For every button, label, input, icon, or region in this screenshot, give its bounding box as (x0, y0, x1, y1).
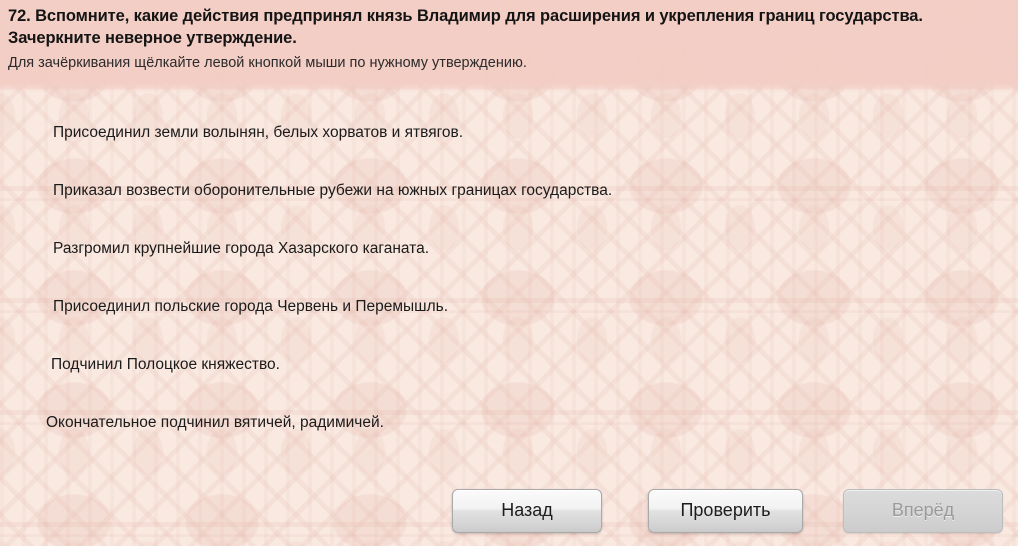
navigation-bar: Назад Проверить Вперёд (0, 489, 1018, 537)
question-title: 72. Вспомните, какие действия предпринял… (8, 6, 993, 50)
question-header: 72. Вспомните, какие действия предпринял… (0, 0, 1018, 72)
statement-item[interactable]: Приказал возвести оборонительные рубежи … (0, 162, 1018, 220)
statement-item[interactable]: Присоединил польские города Червень и Пе… (0, 278, 1018, 336)
statement-text: Присоединил земли волынян, белых хорвато… (53, 124, 463, 142)
statement-text: Приказал возвести оборонительные рубежи … (53, 182, 612, 200)
statement-text: Присоединил польские города Червень и Пе… (53, 298, 448, 316)
statement-item[interactable]: Подчинил Полоцкое княжество. (0, 336, 1018, 394)
statement-text: Окончательное подчинил вятичей, радимиче… (46, 414, 384, 432)
check-button[interactable]: Проверить (648, 489, 803, 533)
statement-text: Разгромил крупнейшие города Хазарского к… (53, 240, 429, 258)
lesson-slide: 72. Вспомните, какие действия предпринял… (0, 0, 1018, 546)
back-button[interactable]: Назад (452, 489, 602, 533)
slide-content: 72. Вспомните, какие действия предпринял… (0, 0, 1018, 546)
statement-list: Присоединил земли волынян, белых хорвато… (0, 104, 1018, 452)
statement-item[interactable]: Окончательное подчинил вятичей, радимиче… (0, 394, 1018, 452)
statement-text: Подчинил Полоцкое княжество. (51, 356, 280, 374)
question-instruction: Для зачёркивания щёлкайте левой кнопкой … (8, 55, 1004, 72)
statement-item[interactable]: Присоединил земли волынян, белых хорвато… (0, 104, 1018, 162)
forward-button: Вперёд (843, 489, 1003, 533)
statement-item[interactable]: Разгромил крупнейшие города Хазарского к… (0, 220, 1018, 278)
